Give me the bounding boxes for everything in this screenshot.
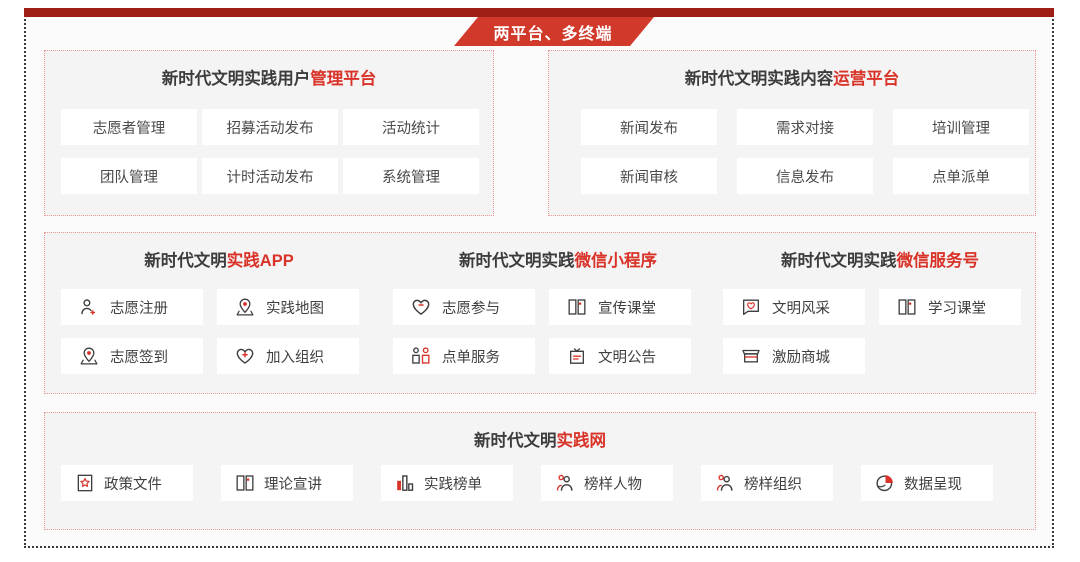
group-title-accent: 微信小程序 — [575, 252, 658, 270]
item-learning-classroom[interactable]: 学习课堂 — [879, 289, 1021, 325]
item-recruit-activity-publish[interactable]: 招募活动发布 — [202, 109, 338, 145]
map-pin-icon — [79, 346, 99, 366]
bar-chart-icon — [395, 473, 415, 493]
item-label: 学习课堂 — [928, 297, 986, 318]
message-heart-icon — [741, 297, 761, 317]
item-label: 实践榜单 — [424, 473, 482, 494]
item-incentive-mall[interactable]: 激励商城 — [723, 338, 865, 374]
item-team-management[interactable]: 团队管理 — [61, 158, 197, 194]
group-title-plain: 新时代文明实践 — [459, 252, 575, 270]
item-label: 榜样组织 — [744, 473, 802, 494]
item-publicity-classroom[interactable]: 宣传课堂 — [549, 289, 691, 325]
item-label: 志愿参与 — [442, 297, 500, 318]
pie-chart-icon — [875, 473, 895, 493]
panel-title: 新时代文明实践用户管理平台 — [45, 65, 493, 89]
item-activity-statistics[interactable]: 活动统计 — [343, 109, 479, 145]
two-people-icon — [555, 473, 575, 493]
item-order-dispatch[interactable]: 点单派单 — [893, 158, 1029, 194]
item-demand-matching[interactable]: 需求对接 — [737, 109, 873, 145]
item-volunteer-participation[interactable]: 志愿参与 — [393, 289, 535, 325]
open-book-icon — [235, 473, 255, 493]
panel-title-plain: 新时代文明实践用户 — [162, 70, 311, 88]
two-people-icon — [715, 473, 735, 493]
panel-multi-terminal-apps: 新时代文明实践APP 新时代文明实践微信小程序 新时代文明实践微信服务号 志愿注… — [44, 232, 1036, 394]
item-order-service[interactable]: 点单服务 — [393, 338, 535, 374]
open-book-icon — [567, 297, 587, 317]
item-label: 理论宣讲 — [264, 473, 322, 494]
group-title-accent: 实践APP — [227, 252, 294, 270]
open-book-icon — [897, 297, 917, 317]
item-news-publish[interactable]: 新闻发布 — [581, 109, 717, 145]
item-label: 政策文件 — [104, 473, 162, 494]
group-title-accent: 微信服务号 — [897, 252, 980, 270]
heart-icon — [411, 297, 431, 317]
item-label: 加入组织 — [266, 346, 324, 367]
panel-practice-website: 新时代文明实践网 政策文件 理论宣讲 实践榜单 榜样人物 榜样组织 数据呈现 — [44, 412, 1036, 530]
item-timed-activity-publish[interactable]: 计时活动发布 — [202, 158, 338, 194]
item-theory-lecture[interactable]: 理论宣讲 — [221, 465, 353, 501]
item-volunteer-checkin[interactable]: 志愿签到 — [61, 338, 203, 374]
two-people-icon — [411, 346, 431, 366]
item-volunteer-management[interactable]: 志愿者管理 — [61, 109, 197, 145]
panel-title: 新时代文明实践网 — [45, 427, 1035, 451]
item-role-model-organization[interactable]: 榜样组织 — [701, 465, 833, 501]
group-title-practice-app: 新时代文明实践APP — [45, 247, 393, 271]
item-information-publish[interactable]: 信息发布 — [737, 158, 873, 194]
item-label: 文明风采 — [772, 297, 830, 318]
group-title-plain: 新时代文明实践 — [781, 252, 897, 270]
panel-title-plain: 新时代文明实践内容 — [685, 70, 834, 88]
item-practice-ranking[interactable]: 实践榜单 — [381, 465, 513, 501]
clipboard-icon — [567, 346, 587, 366]
item-label: 志愿注册 — [110, 297, 168, 318]
group-title-plain: 新时代文明 — [144, 252, 227, 270]
map-pin-icon — [235, 297, 255, 317]
item-label: 数据呈现 — [904, 473, 962, 494]
item-system-management[interactable]: 系统管理 — [343, 158, 479, 194]
item-label: 点单服务 — [442, 346, 500, 367]
panel-title: 新时代文明实践内容运营平台 — [549, 65, 1035, 89]
item-practice-map[interactable]: 实践地图 — [217, 289, 359, 325]
panel-user-management-platform: 新时代文明实践用户管理平台 志愿者管理 招募活动发布 活动统计 团队管理 计时活… — [44, 50, 494, 216]
panel-content-operation-platform: 新时代文明实践内容运营平台 新闻发布 需求对接 培训管理 新闻审核 信息发布 点… — [548, 50, 1036, 216]
group-title-wechat-service-account: 新时代文明实践微信服务号 — [723, 247, 1037, 271]
item-civilization-style[interactable]: 文明风采 — [723, 289, 865, 325]
panel-title-accent: 管理平台 — [310, 70, 376, 88]
item-join-organization[interactable]: 加入组织 — [217, 338, 359, 374]
item-label: 激励商城 — [772, 346, 830, 367]
group-title-wechat-mini-program: 新时代文明实践微信小程序 — [393, 247, 723, 271]
shop-icon — [741, 346, 761, 366]
panel-title-plain: 新时代文明 — [474, 432, 557, 450]
user-add-icon — [79, 297, 99, 317]
item-policy-documents[interactable]: 政策文件 — [61, 465, 193, 501]
item-volunteer-registration[interactable]: 志愿注册 — [61, 289, 203, 325]
item-news-review[interactable]: 新闻审核 — [581, 158, 717, 194]
panel-title-accent: 运营平台 — [833, 70, 899, 88]
item-label: 实践地图 — [266, 297, 324, 318]
star-document-icon — [75, 473, 95, 493]
item-label: 榜样人物 — [584, 473, 642, 494]
heart-add-icon — [235, 346, 255, 366]
item-label: 宣传课堂 — [598, 297, 656, 318]
item-label: 文明公告 — [598, 346, 656, 367]
item-role-model-person[interactable]: 榜样人物 — [541, 465, 673, 501]
panel-title-accent: 实践网 — [557, 432, 607, 450]
item-civilization-announcement[interactable]: 文明公告 — [549, 338, 691, 374]
item-training-management[interactable]: 培训管理 — [893, 109, 1029, 145]
item-data-presentation[interactable]: 数据呈现 — [861, 465, 993, 501]
item-label: 志愿签到 — [110, 346, 168, 367]
